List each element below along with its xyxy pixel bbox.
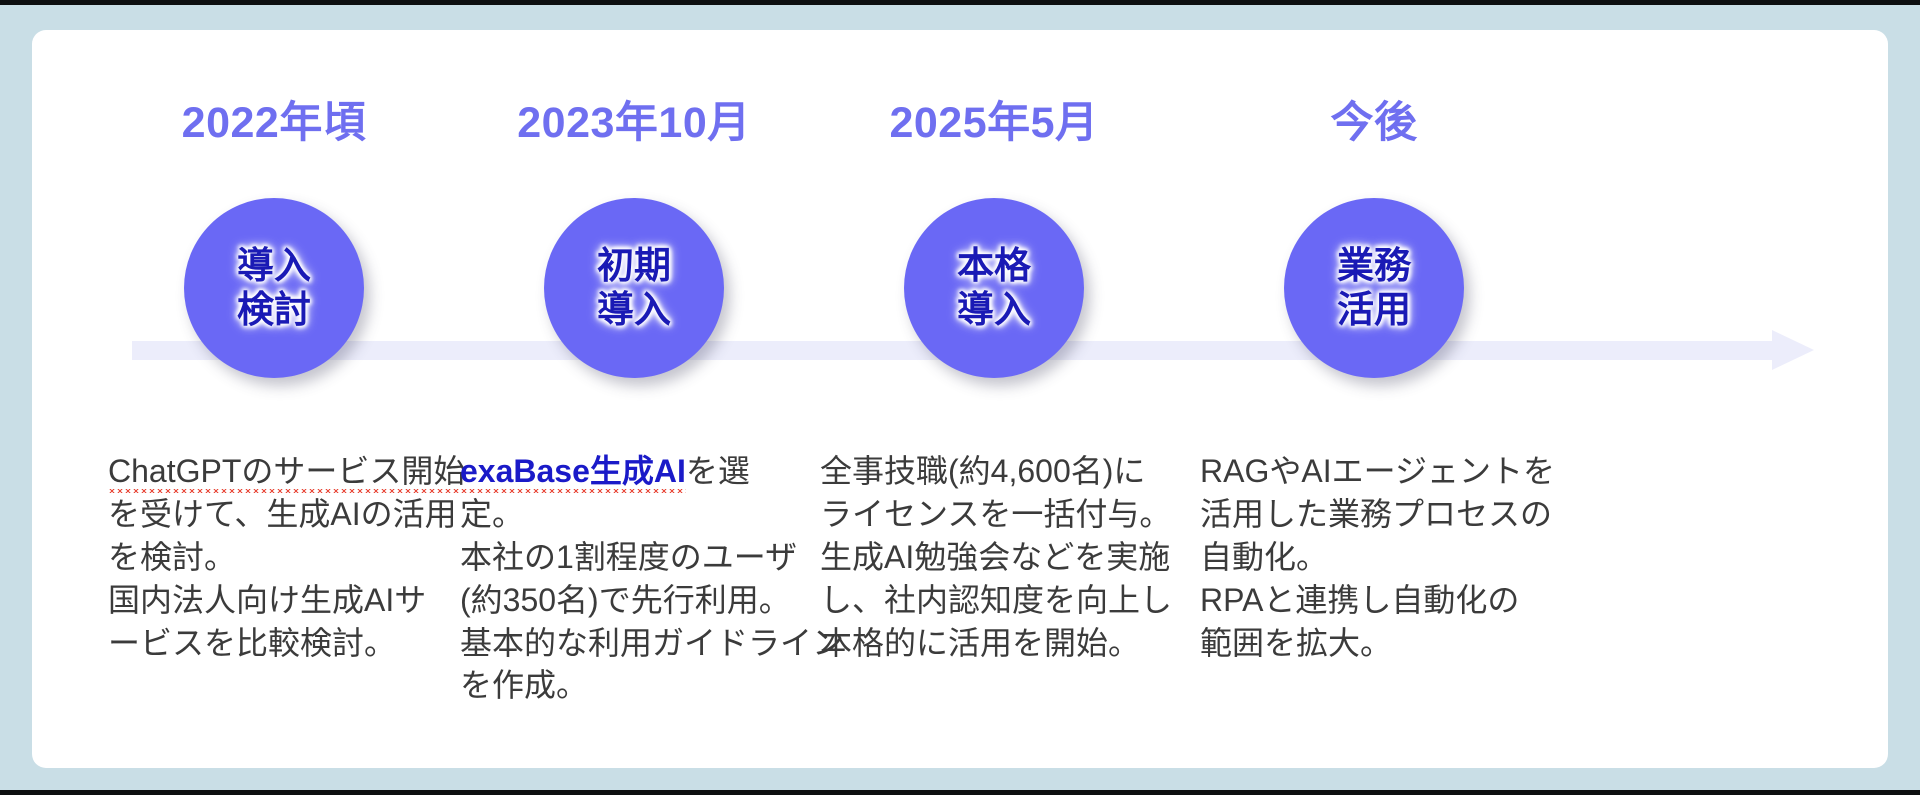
step-2-body-line-1-tail: を選 — [686, 453, 750, 489]
step-4-body: RAGやAIエージェントを 活用した業務プロセスの 自動化。 RPAと連携し自動… — [1162, 450, 1602, 664]
step-4-heading: 今後 — [1154, 88, 1594, 150]
step-3-circle-wrap: 本格 導入 — [774, 198, 1214, 388]
step-3-body-line-4: し、社内認知度を向上し — [820, 579, 1208, 622]
step-4-circle[interactable]: 業務 活用 — [1284, 198, 1464, 378]
step-3-body-line-1: 全事技職(約4,600名)に — [820, 450, 1208, 493]
step-3-body-line-5: 本格的に活用を開始。 — [820, 622, 1208, 665]
step-3-circle[interactable]: 本格 導入 — [904, 198, 1084, 378]
step-1-body: ChatGPTのサービス開始 を受けて、生成AIの活用 を検討。 国内法人向け生… — [62, 450, 482, 664]
step-1-body-line-5: ービスを比較検討。 — [108, 622, 472, 665]
highlight-exabase-term: exaBase生成AI — [460, 453, 686, 493]
step-2-body-line-6: を作成。 — [460, 664, 848, 707]
step-2-circle-line1: 初期 — [597, 244, 671, 288]
step-3-body-line-2: ライセンスを一括付与。 — [820, 493, 1208, 536]
step-2-circle-line2: 導入 — [597, 288, 671, 332]
step-3-body-line-3: 生成AI勉強会などを実施 — [820, 536, 1208, 579]
spellcheck-span-chatgpt: ChatGPTのサービス開始 — [108, 453, 465, 493]
step-1-circle-line2: 検討 — [237, 288, 311, 332]
step-2-circle[interactable]: 初期 導入 — [544, 198, 724, 378]
step-4-circle-line2: 活用 — [1337, 288, 1411, 332]
step-3-circle-line1: 本格 — [957, 244, 1031, 288]
step-3-body: 全事技職(約4,600名)に ライセンスを一括付与。 生成AI勉強会などを実施 … — [782, 450, 1212, 664]
step-1-circle-line1: 導入 — [237, 244, 311, 288]
step-4-body-line-5: 範囲を拡大。 — [1200, 622, 1598, 665]
step-1-body-line-3: を検討。 — [108, 536, 472, 579]
step-4-body-line-4: RPAと連携し自動化の — [1200, 579, 1598, 622]
step-1-circle[interactable]: 導入 検討 — [184, 198, 364, 378]
step-1-body-line-2: を受けて、生成AIの活用 — [108, 493, 472, 536]
step-4-body-line-3: 自動化。 — [1200, 536, 1598, 579]
screenshot-root: 2022年頃 導入 検討 ChatGPTのサービス開始 を受けて、生成AIの活用… — [0, 0, 1920, 795]
timeline-arrow-head-icon — [1772, 330, 1814, 370]
step-4-circle-wrap: 業務 活用 — [1154, 198, 1594, 388]
step-3-heading: 2025年5月 — [774, 88, 1214, 150]
step-4-body-line-2: 活用した業務プロセスの — [1200, 493, 1598, 536]
step-1-body-line-1: ChatGPTのサービス開始 — [108, 450, 472, 493]
step-1-body-line-4: 国内法人向け生成AIサ — [108, 579, 472, 622]
slide-card: 2022年頃 導入 検討 ChatGPTのサービス開始 を受けて、生成AIの活用… — [32, 30, 1888, 768]
step-4-circle-line1: 業務 — [1337, 244, 1411, 288]
step-3-circle-line2: 導入 — [957, 288, 1031, 332]
step-4-body-line-1: RAGやAIエージェントを — [1200, 450, 1598, 493]
